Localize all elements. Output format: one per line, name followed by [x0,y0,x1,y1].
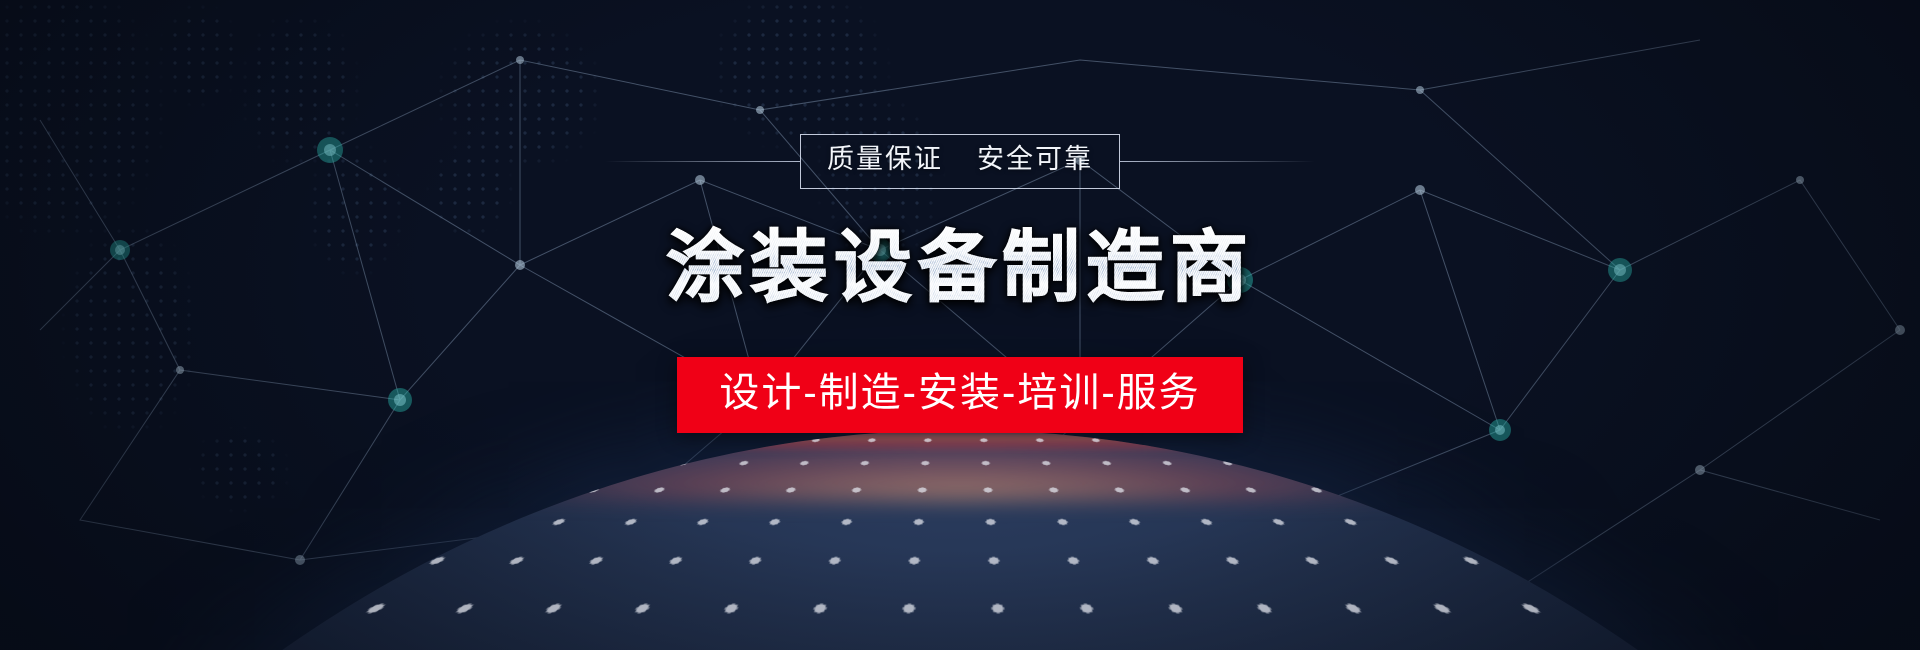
tagline-box: 质量保证 安全可靠 [800,134,1120,189]
page-title: 涂装设备制造商 [666,225,1254,309]
hero-banner: 质量保证 安全可靠 涂装设备制造商 设计-制造-安装-培训-服务 [0,0,1920,650]
tagline-rule-right [1120,161,1315,162]
tagline-row: 质量保证 安全可靠 [0,134,1920,189]
tagline-rule-left [605,161,800,162]
tagline-quality: 质量保证 [827,143,943,177]
tagline-safety: 安全可靠 [977,143,1093,177]
services-list-label: 设计-制造-安装-培训-服务 [719,371,1200,415]
banner-content: 质量保证 安全可靠 涂装设备制造商 设计-制造-安装-培训-服务 [0,0,1920,650]
services-red-strip: 设计-制造-安装-培训-服务 [677,357,1242,433]
